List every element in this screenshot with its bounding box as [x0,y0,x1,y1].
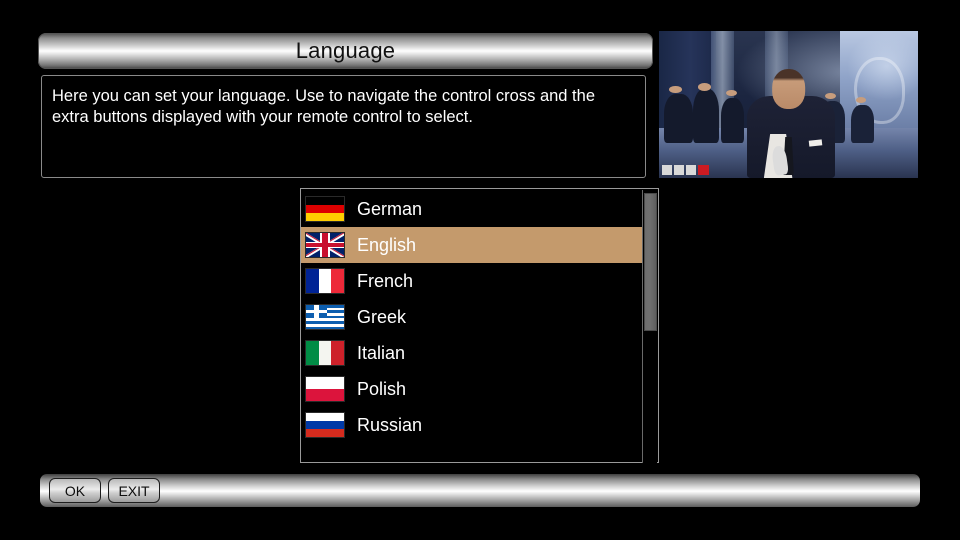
flag-germany-icon [305,196,345,222]
news-channel-logo [662,164,709,175]
list-item-label: English [357,235,416,256]
list-item-label: Polish [357,379,406,400]
flag-greece-icon [305,304,345,330]
language-list[interactable]: German English [300,188,659,463]
list-item[interactable]: German [301,191,642,227]
flag-russia-icon [305,412,345,438]
scrollbar-thumb[interactable] [644,193,657,331]
list-item-label: French [357,271,413,292]
softkey-bar: OK EXIT [40,474,920,507]
language-list-scrollbar[interactable] [642,190,657,463]
ok-button[interactable]: OK [49,478,101,503]
flag-united-kingdom-icon [305,232,345,258]
flag-poland-icon [305,376,345,402]
list-item-selected[interactable]: English [301,227,642,263]
exit-button[interactable]: EXIT [108,478,160,503]
list-item[interactable]: Greek [301,299,642,335]
flag-italy-icon [305,340,345,366]
description-text: Here you can set your language. Use to n… [52,86,633,128]
flag-france-icon [305,268,345,294]
video-anchor-head [772,69,806,109]
language-list-items: German English [301,191,642,443]
list-item-label: Greek [357,307,406,328]
description-panel: Here you can set your language. Use to n… [41,75,646,178]
page-title: Language [296,38,395,64]
list-item[interactable]: Russian [301,407,642,443]
list-item-label: Russian [357,415,422,436]
video-preview[interactable] [659,31,918,178]
list-item[interactable]: Polish [301,371,642,407]
list-item[interactable]: French [301,263,642,299]
list-item[interactable]: Italian [301,335,642,371]
list-item-label: German [357,199,422,220]
tv-settings-screen: Language Here you can set your language.… [0,0,960,540]
page-title-bar: Language [38,33,653,69]
list-item-label: Italian [357,343,405,364]
video-anchor-pocket-square [809,139,822,146]
